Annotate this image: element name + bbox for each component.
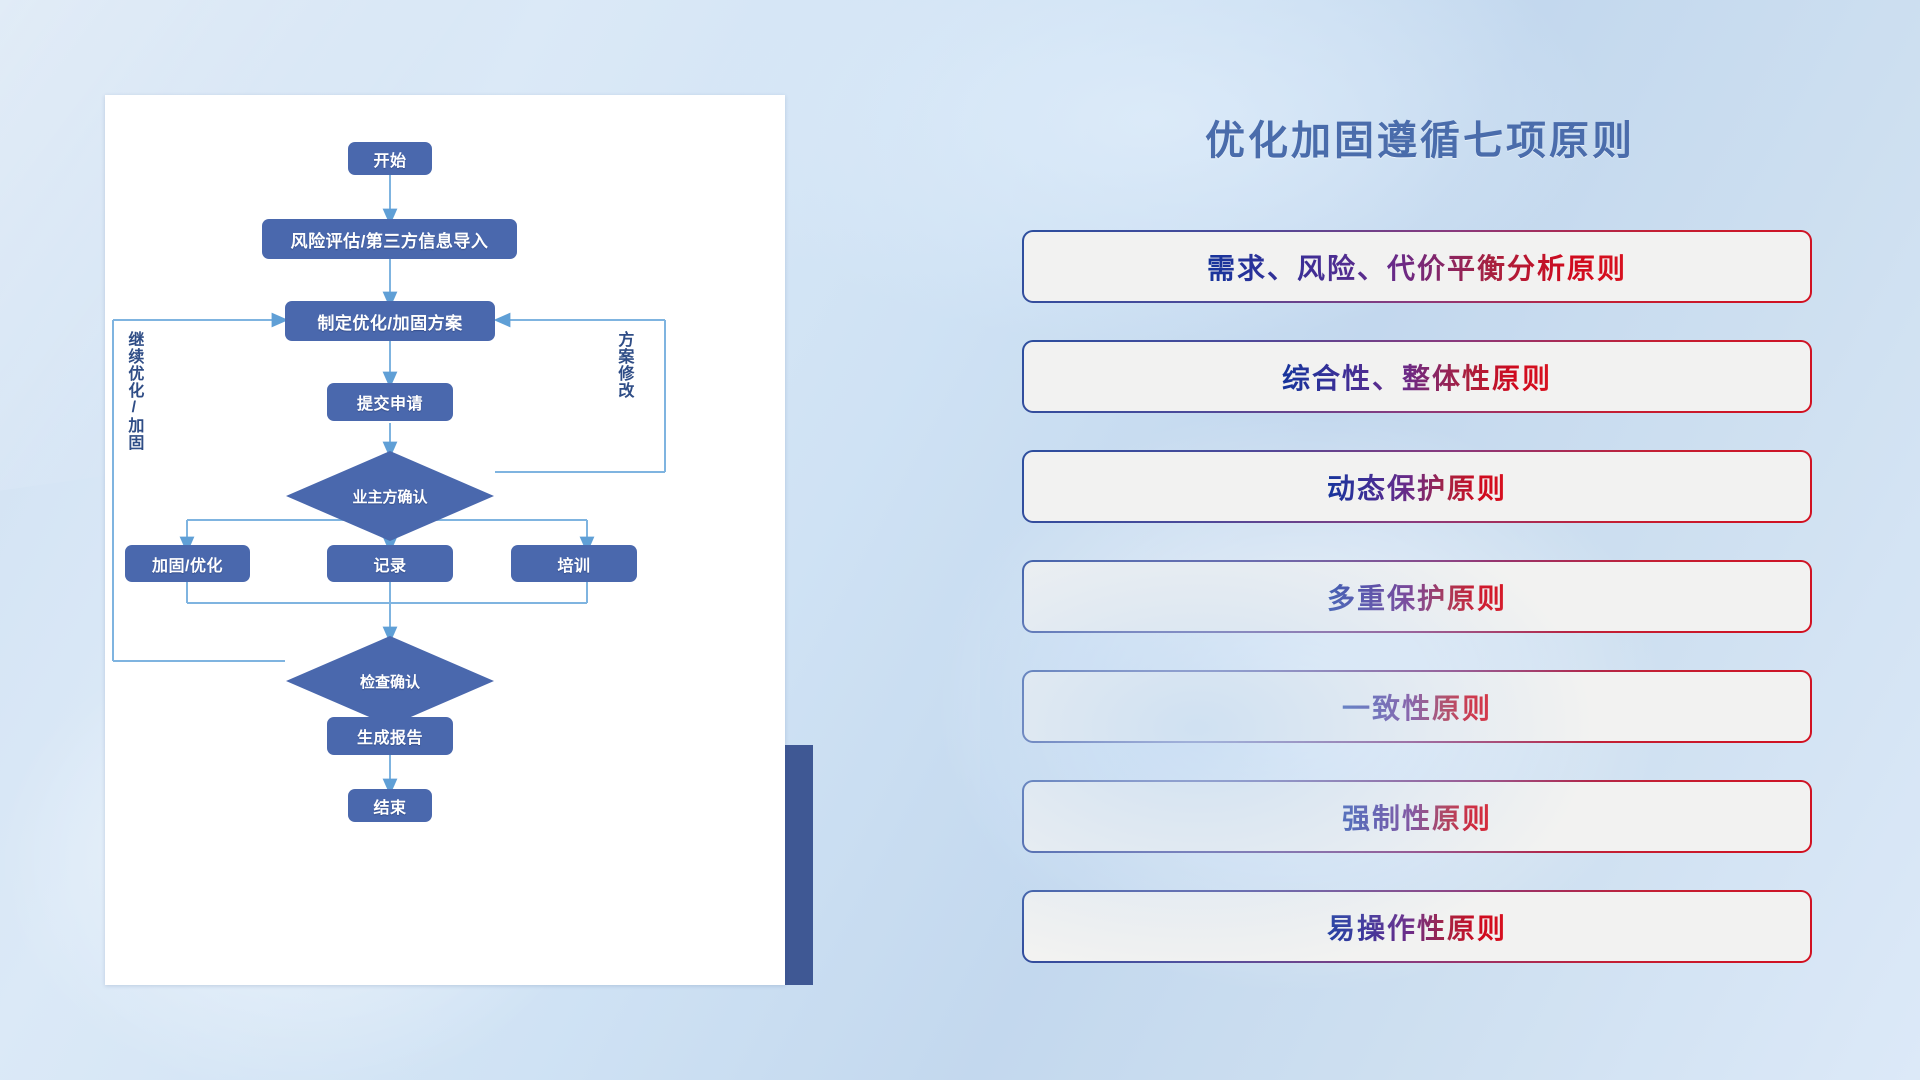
principle-item[interactable]: 易操作性原则 bbox=[1022, 890, 1812, 963]
flow-node-submit[interactable]: 提交申请 bbox=[327, 383, 453, 421]
flow-node-label: 制定优化/加固方案 bbox=[317, 309, 462, 334]
flow-node-record[interactable]: 记录 bbox=[327, 545, 453, 582]
principle-item-inner: 易操作性原则 bbox=[1024, 892, 1810, 961]
flow-node-owner-confirm[interactable]: 业主方确认 bbox=[285, 450, 495, 542]
principles-list: 需求、风险、代价平衡分析原则 综合性、整体性原则 动态保护原则 多重保护原则 bbox=[1022, 230, 1812, 1000]
principle-item-label: 综合性、整体性原则 bbox=[1282, 357, 1552, 397]
flow-node-end[interactable]: 结束 bbox=[348, 789, 432, 822]
principle-item-inner: 强制性原则 bbox=[1024, 782, 1810, 851]
principle-item-inner: 多重保护原则 bbox=[1024, 562, 1810, 631]
flowchart-panel: 开始 风险评估/第三方信息导入 制定优化/加固方案 提交申请 业主方确认 bbox=[0, 0, 860, 1080]
flow-node-training[interactable]: 培训 bbox=[511, 545, 637, 582]
flow-node-label: 加固/优化 bbox=[152, 552, 223, 576]
slide-canvas: 开始 风险评估/第三方信息导入 制定优化/加固方案 提交申请 业主方确认 bbox=[0, 0, 1920, 1080]
principle-item-label: 易操作性原则 bbox=[1327, 907, 1507, 947]
flow-node-reinforce[interactable]: 加固/优化 bbox=[125, 545, 250, 582]
principle-item-inner: 需求、风险、代价平衡分析原则 bbox=[1024, 232, 1810, 301]
flow-node-start[interactable]: 开始 bbox=[348, 142, 432, 175]
flow-node-label: 业主方确认 bbox=[352, 486, 427, 507]
flow-node-generate-report[interactable]: 生成报告 bbox=[327, 717, 453, 755]
flow-node-label: 风险评估/第三方信息导入 bbox=[291, 227, 489, 252]
flow-node-label: 开始 bbox=[373, 147, 406, 171]
principle-item-label: 一致性原则 bbox=[1342, 687, 1492, 727]
flow-node-plan[interactable]: 制定优化/加固方案 bbox=[285, 301, 495, 341]
flowchart-card: 开始 风险评估/第三方信息导入 制定优化/加固方案 提交申请 业主方确认 bbox=[105, 95, 785, 985]
principle-item[interactable]: 综合性、整体性原则 bbox=[1022, 340, 1812, 413]
flow-edge-label-text: 方案修改 bbox=[615, 331, 632, 399]
flow-node-label: 检查确认 bbox=[360, 671, 420, 692]
flow-node-label: 结束 bbox=[373, 794, 406, 818]
flow-node-label: 记录 bbox=[373, 552, 406, 576]
flow-edge-label-left: 继续优化/加固 bbox=[125, 331, 141, 471]
principle-item-label: 需求、风险、代价平衡分析原则 bbox=[1207, 247, 1627, 287]
principle-item[interactable]: 一致性原则 bbox=[1022, 670, 1812, 743]
flow-node-label: 培训 bbox=[557, 552, 590, 576]
principle-item[interactable]: 多重保护原则 bbox=[1022, 560, 1812, 633]
flow-edge-label-text: 继续优化/加固 bbox=[125, 331, 142, 451]
principle-item[interactable]: 动态保护原则 bbox=[1022, 450, 1812, 523]
flow-node-check-confirm[interactable]: 检查确认 bbox=[285, 635, 495, 727]
principle-item-inner: 一致性原则 bbox=[1024, 672, 1810, 741]
flow-edge-label-right: 方案修改 bbox=[615, 331, 631, 441]
flow-node-label: 提交申请 bbox=[357, 390, 423, 414]
principle-item-inner: 动态保护原则 bbox=[1024, 452, 1810, 521]
principle-item[interactable]: 需求、风险、代价平衡分析原则 bbox=[1022, 230, 1812, 303]
principle-item-label: 多重保护原则 bbox=[1327, 577, 1507, 617]
principles-title: 优化加固遵循七项原则 bbox=[1000, 108, 1840, 166]
principle-item-label: 动态保护原则 bbox=[1327, 467, 1507, 507]
principle-item-label: 强制性原则 bbox=[1342, 797, 1492, 837]
principles-panel: 优化加固遵循七项原则 需求、风险、代价平衡分析原则 综合性、整体性原则 动态保护… bbox=[1000, 0, 1920, 1080]
principle-item-inner: 综合性、整体性原则 bbox=[1024, 342, 1810, 411]
flow-node-label: 生成报告 bbox=[357, 724, 423, 748]
principle-item[interactable]: 强制性原则 bbox=[1022, 780, 1812, 853]
flow-node-risk-assessment[interactable]: 风险评估/第三方信息导入 bbox=[262, 219, 517, 259]
